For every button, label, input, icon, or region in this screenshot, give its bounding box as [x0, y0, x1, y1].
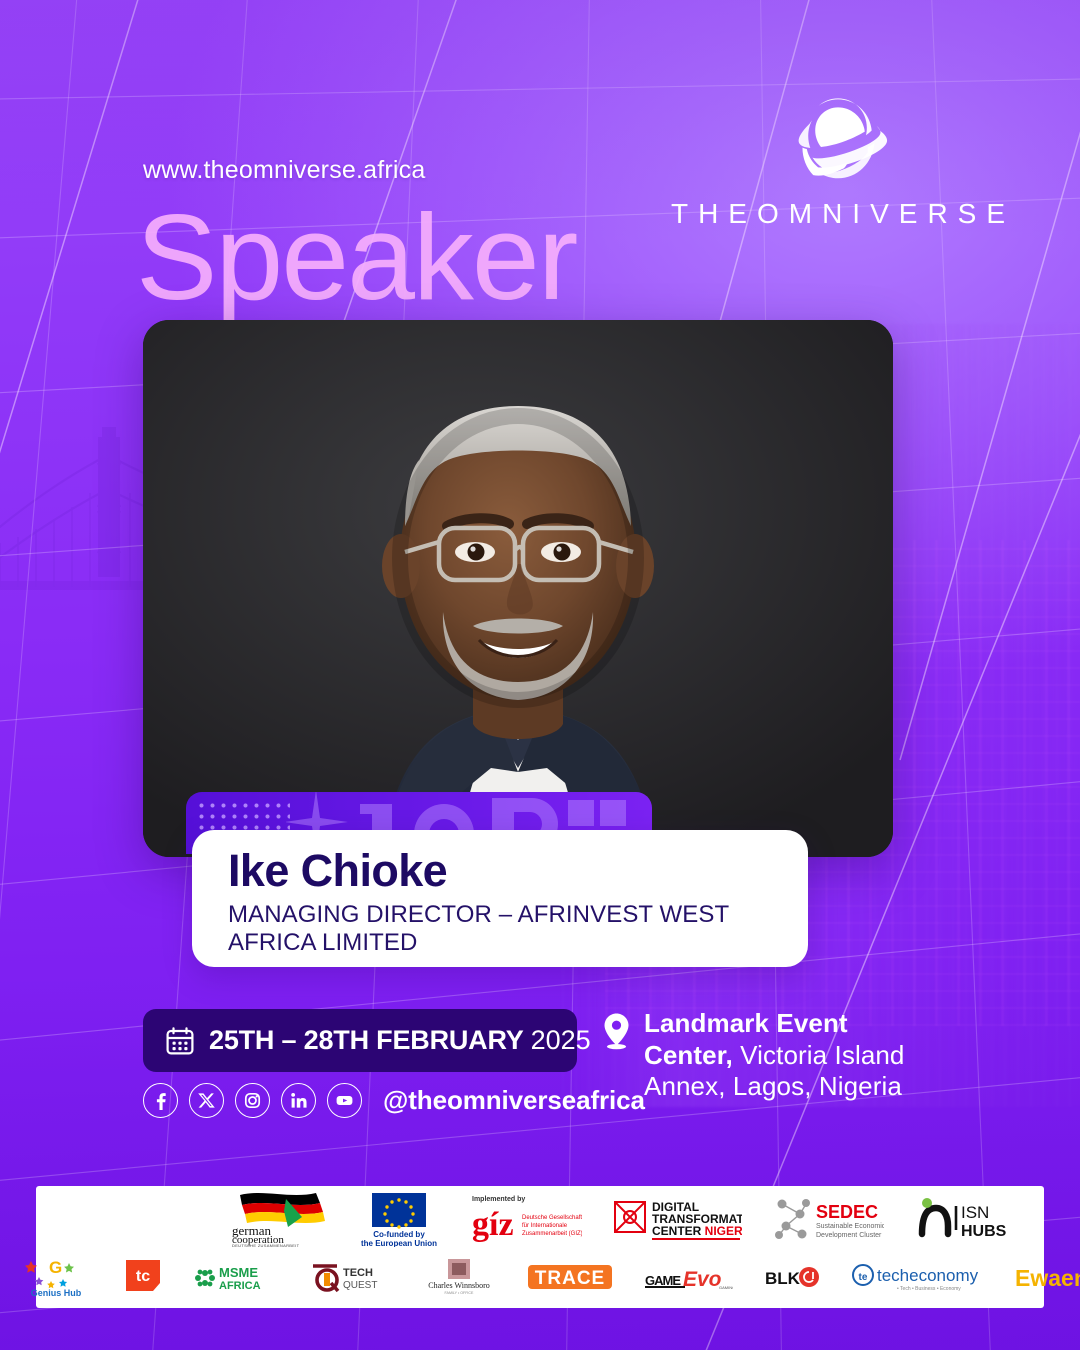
x-twitter-icon[interactable] — [189, 1083, 224, 1118]
sponsor-logo-bar: german cooperation DEUTSCHE ZUSAMMENARBE… — [36, 1186, 1044, 1308]
msme-africa-logo: MSME AFRICA — [193, 1259, 279, 1295]
event-date-badge: 25TH – 28TH FEBRUARY2025 — [143, 1009, 577, 1072]
svg-text:TECH: TECH — [343, 1267, 373, 1279]
svg-text:Genius Hub: Genius Hub — [31, 1288, 82, 1298]
techeconomy-logo: te techeconomy • Tech • Business • Econo… — [851, 1260, 983, 1294]
svg-text:TRACE: TRACE — [535, 1268, 605, 1289]
ewaen-logo: Ewaen — [1013, 1261, 1080, 1293]
european-union-logo: Co-funded by the European Union — [358, 1191, 440, 1247]
svg-text:MSME: MSME — [219, 1265, 258, 1280]
svg-text:Evo: Evo — [683, 1268, 722, 1291]
youtube-icon[interactable] — [327, 1083, 362, 1118]
svg-text:BLK: BLK — [765, 1269, 801, 1288]
trace-logo: TRACE — [527, 1261, 613, 1293]
venue-name-line-1: Landmark Event — [644, 1008, 848, 1038]
genius-hub-logo: G Genius Hub — [19, 1255, 93, 1299]
venue-city: Annex, Lagos, Nigeria — [644, 1071, 902, 1101]
venue-area: Victoria Island — [733, 1040, 905, 1070]
svg-text:te: te — [859, 1272, 868, 1283]
poster-canvas: www.theomniverse.africa Speaker THEOMNIV… — [0, 0, 1080, 1350]
speaker-role: MANAGING DIRECTOR – AFRINVEST WEST AFRIC… — [228, 901, 772, 957]
speaker-role-line-2: AFRICA LIMITED — [228, 929, 417, 956]
map-pin-icon — [601, 1012, 632, 1050]
svg-text:tc: tc — [136, 1268, 150, 1285]
instagram-icon[interactable] — [235, 1083, 270, 1118]
svg-text:QUEST: QUEST — [343, 1280, 377, 1291]
svg-text:the European Union: the European Union — [361, 1239, 437, 1247]
techquest-logo: TECH QUEST — [309, 1259, 391, 1295]
event-year: 2025 — [531, 1025, 591, 1055]
event-date-range: 25TH – 28TH FEBRUARY — [209, 1025, 524, 1055]
svg-text:DEUTSCHE ZUSAMMENARBEIT: DEUTSCHE ZUSAMMENARBEIT — [232, 1243, 300, 1247]
svg-text:Zusammenarbeit (GIZ) GmbH: Zusammenarbeit (GIZ) GmbH — [522, 1231, 582, 1237]
gameevo-logo: GAME Evo GAMING — [643, 1261, 733, 1293]
svg-text:Development Cluster: Development Cluster — [816, 1232, 882, 1239]
event-location: Landmark Event Center, Victoria Island A… — [601, 1008, 1021, 1103]
svg-text:• Tech • Business • Economy: • Tech • Business • Economy — [897, 1286, 961, 1292]
brand-name: THEOMNIVERSE — [661, 198, 1015, 230]
svg-text:techeconomy: techeconomy — [877, 1266, 979, 1285]
sponsor-row-bottom: LSETF LAGOS STATE EMPLOYMENT TRUST FUND … — [36, 1249, 1044, 1305]
website-url: www.theomniverse.africa — [143, 156, 425, 185]
linkedin-icon[interactable] — [281, 1083, 316, 1118]
blk-logo: BLK — [763, 1262, 821, 1292]
isn-hubs-logo: ISN HUBS — [914, 1194, 1006, 1244]
giz-logo: Implemented by gíz Deutsche Gesellschaft… — [470, 1191, 582, 1247]
svg-text:ISN: ISN — [961, 1203, 989, 1222]
speaker-role-line-1: MANAGING DIRECTOR – AFRINVEST WEST — [228, 901, 729, 928]
svg-text:gíz: gíz — [472, 1206, 514, 1243]
svg-text:Sustainable Economic: Sustainable Economic — [816, 1223, 884, 1230]
svg-text:HUBS: HUBS — [961, 1223, 1006, 1240]
calendar-icon — [165, 1026, 195, 1056]
social-handle[interactable]: @theomniverseafrica — [383, 1085, 645, 1116]
svg-text:Ewaen: Ewaen — [1015, 1265, 1080, 1291]
svg-text:AFRICA: AFRICA — [219, 1280, 261, 1292]
svg-text:G: G — [49, 1258, 62, 1277]
speaker-portrait — [143, 320, 893, 857]
svg-text:GAMING: GAMING — [719, 1285, 733, 1290]
facebook-icon[interactable] — [143, 1083, 178, 1118]
digital-transformation-center-nigeria-logo: DIGITAL TRANSFORMATION CENTER NIGERIA — [612, 1194, 742, 1244]
charles-winnsboro-logo: Charles Winnsboro FAMILY • OFFICE — [421, 1257, 497, 1297]
svg-text:CENTER NIGERIA: CENTER NIGERIA — [652, 1224, 742, 1238]
brand-lockup: THEOMNIVERSE — [658, 88, 1018, 230]
speaker-name-card: Ike Chioke MANAGING DIRECTOR – AFRINVEST… — [192, 830, 808, 967]
event-date-text: 25TH – 28TH FEBRUARY2025 — [209, 1025, 591, 1056]
sponsor-row-top: german cooperation DEUTSCHE ZUSAMMENARBE… — [36, 1189, 1044, 1249]
techcabal-logo: tc — [123, 1257, 163, 1297]
svg-text:Co-funded by: Co-funded by — [373, 1230, 425, 1239]
venue-name-line-2: Center, — [644, 1040, 733, 1070]
globe-swoosh-icon — [786, 88, 890, 192]
svg-text:SEDEC: SEDEC — [816, 1202, 878, 1222]
svg-text:FAMILY • OFFICE: FAMILY • OFFICE — [445, 1291, 474, 1295]
sedec-logo: SEDEC Sustainable Economic Development C… — [772, 1194, 884, 1244]
svg-text:für Internationale: für Internationale — [522, 1223, 568, 1229]
svg-text:Charles Winnsboro: Charles Winnsboro — [428, 1281, 490, 1290]
page-title: Speaker — [136, 196, 576, 318]
svg-text:GAME: GAME — [645, 1273, 681, 1288]
speaker-name: Ike Chioke — [228, 848, 772, 895]
svg-text:Implemented by: Implemented by — [472, 1196, 525, 1203]
german-cooperation-logo: german cooperation DEUTSCHE ZUSAMMENARBE… — [224, 1191, 328, 1247]
event-venue-text: Landmark Event Center, Victoria Island A… — [644, 1008, 905, 1103]
svg-text:Deutsche Gesellschaft: Deutsche Gesellschaft — [522, 1215, 582, 1221]
social-links[interactable]: @theomniverseafrica — [143, 1083, 645, 1118]
